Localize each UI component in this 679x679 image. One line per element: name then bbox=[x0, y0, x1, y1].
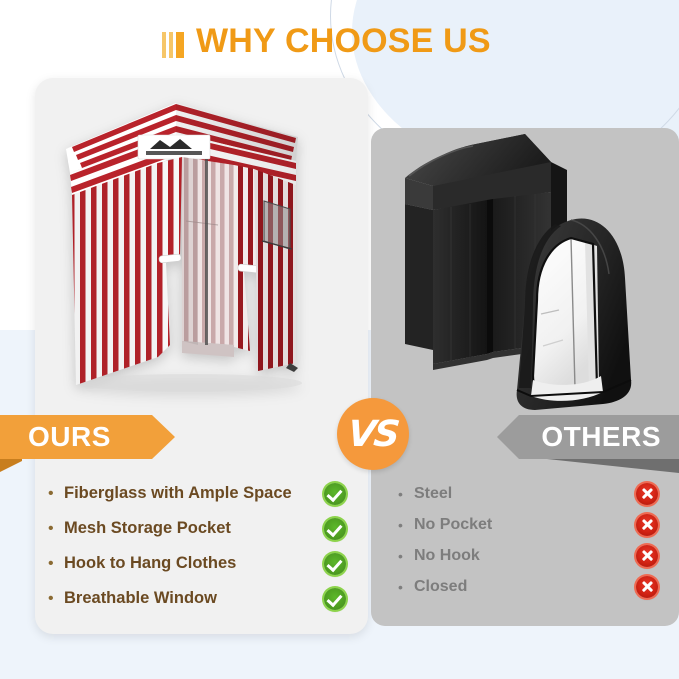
ours-ribbon: OURS bbox=[0, 415, 175, 459]
vs-label: VS bbox=[346, 414, 400, 455]
bullet-icon: • bbox=[398, 549, 414, 563]
x-circle-icon bbox=[636, 514, 658, 536]
ours-feature-label: Breathable Window bbox=[64, 589, 322, 608]
others-ribbon: OTHERS bbox=[497, 415, 679, 459]
bullet-icon: • bbox=[398, 518, 414, 532]
x-circle-icon bbox=[636, 483, 658, 505]
check-circle-icon bbox=[324, 588, 346, 610]
bullet-icon: • bbox=[48, 521, 64, 537]
bullet-icon: • bbox=[48, 556, 64, 572]
others-ribbon-label: OTHERS bbox=[541, 421, 661, 453]
bullet-icon: • bbox=[48, 591, 64, 607]
bullet-icon: • bbox=[398, 580, 414, 594]
x-circle-icon bbox=[636, 576, 658, 598]
others-feature-label: No Hook bbox=[414, 547, 634, 565]
check-circle-icon bbox=[324, 553, 346, 575]
list-item: • No Hook bbox=[398, 540, 660, 571]
list-item: • No Pocket bbox=[398, 509, 660, 540]
list-item: • Hook to Hang Clothes bbox=[48, 546, 348, 581]
brand-logo-label bbox=[138, 135, 210, 159]
list-item: • Steel bbox=[398, 478, 660, 509]
ours-feature-label: Hook to Hang Clothes bbox=[64, 554, 322, 573]
ours-product-image bbox=[58, 95, 348, 400]
others-feature-label: Closed bbox=[414, 578, 634, 596]
list-item: • Breathable Window bbox=[48, 581, 348, 616]
page-title: WHY CHOOSE US bbox=[196, 22, 491, 61]
header: WHY CHOOSE US bbox=[0, 22, 679, 68]
list-item: • Mesh Storage Pocket bbox=[48, 511, 348, 546]
mesh-pocket-detail bbox=[262, 201, 292, 249]
others-feature-label: Steel bbox=[414, 485, 634, 503]
ours-feature-label: Mesh Storage Pocket bbox=[64, 519, 322, 538]
x-circle-icon bbox=[636, 545, 658, 567]
bullet-icon: • bbox=[398, 487, 414, 501]
ours-feature-label: Fiberglass with Ample Space bbox=[64, 484, 322, 503]
others-feature-label: No Pocket bbox=[414, 516, 634, 534]
ours-feature-list: • Fiberglass with Ample Space • Mesh Sto… bbox=[48, 476, 348, 616]
bullet-icon: • bbox=[48, 486, 64, 502]
ours-ribbon-label: OURS bbox=[28, 421, 111, 453]
infographic-canvas: WHY CHOOSE US bbox=[0, 0, 679, 679]
others-product-images bbox=[375, 118, 675, 418]
list-item: • Fiberglass with Ample Space bbox=[48, 476, 348, 511]
check-circle-icon bbox=[324, 483, 346, 505]
others-feature-list: • Steel • No Pocket • No Hook • Closed bbox=[398, 478, 660, 602]
check-circle-icon bbox=[324, 518, 346, 540]
list-item: • Closed bbox=[398, 571, 660, 602]
three-bars-icon bbox=[162, 32, 184, 58]
vs-badge: VS bbox=[337, 398, 409, 470]
